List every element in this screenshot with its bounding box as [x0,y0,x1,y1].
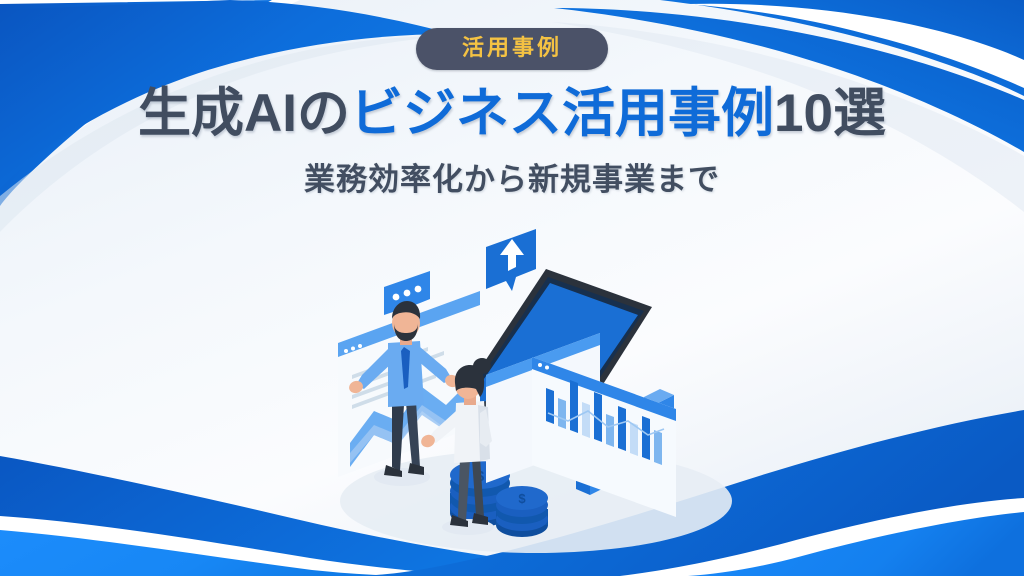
upload-speech-bubble [486,229,536,291]
hero-illustration: $ $ [300,225,760,555]
headline-block: 活用事例 生成AIのビジネス活用事例10選 業務効率化から新規事業まで [0,0,1024,199]
coin-dollar-sign: $ [518,491,526,506]
page-title: 生成AIのビジネス活用事例10選 [0,84,1024,143]
title-part-dark-1: 生成AIの [138,84,350,143]
hair-bun [473,358,491,374]
coin-stack-right: $ [496,486,548,537]
page-subtitle: 業務効率化から新規事業まで [0,154,1024,199]
promo-banner: $ $ [0,0,1024,576]
category-badge: 活用事例 [416,28,608,70]
title-part-dark-2: 10選 [774,84,886,143]
title-part-blue: ビジネス活用事例 [350,84,774,143]
